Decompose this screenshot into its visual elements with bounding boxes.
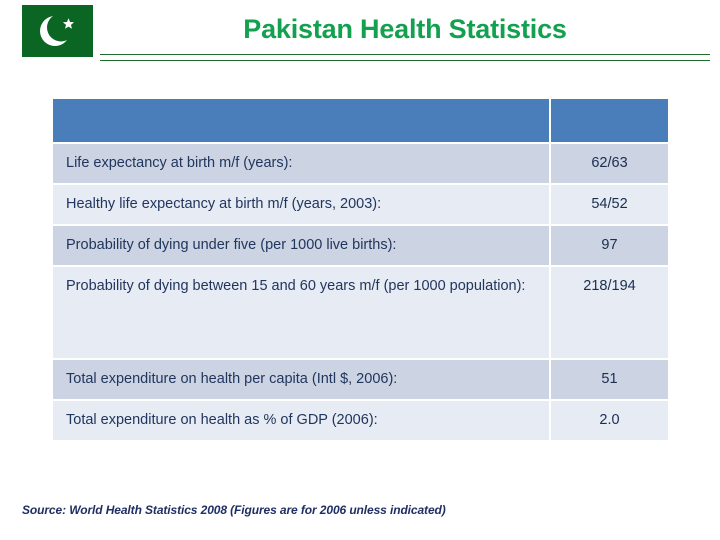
health-statistics-table: Life expectancy at birth m/f (years): 62…: [53, 99, 668, 442]
row-value: 51: [551, 360, 668, 401]
table-header-row: [53, 99, 668, 144]
row-value: 54/52: [551, 185, 668, 226]
flag-emblem: [22, 5, 93, 57]
table-row: Total expenditure on health as % of GDP …: [53, 401, 668, 442]
pakistan-flag-icon: [22, 5, 93, 57]
title-divider: [100, 54, 710, 61]
row-label: Probability of dying between 15 and 60 y…: [53, 267, 551, 360]
row-label: Total expenditure on health as % of GDP …: [53, 401, 551, 442]
table-row: Life expectancy at birth m/f (years): 62…: [53, 144, 668, 185]
row-value: 62/63: [551, 144, 668, 185]
row-value: 2.0: [551, 401, 668, 442]
row-label: Healthy life expectancy at birth m/f (ye…: [53, 185, 551, 226]
row-value: 218/194: [551, 267, 668, 360]
table-header: [53, 99, 668, 144]
column-header-value: [551, 99, 668, 144]
table-body: Life expectancy at birth m/f (years): 62…: [53, 144, 668, 442]
table-row: Probability of dying under five (per 100…: [53, 226, 668, 267]
row-label: Life expectancy at birth m/f (years):: [53, 144, 551, 185]
row-label: Probability of dying under five (per 100…: [53, 226, 551, 267]
source-note: Source: World Health Statistics 2008 (Fi…: [22, 503, 446, 517]
column-header-indicator: [53, 99, 551, 144]
row-label: Total expenditure on health per capita (…: [53, 360, 551, 401]
table-row: Total expenditure on health per capita (…: [53, 360, 668, 401]
row-value: 97: [551, 226, 668, 267]
table-row: Healthy life expectancy at birth m/f (ye…: [53, 185, 668, 226]
page-title: Pakistan Health Statistics: [105, 12, 705, 46]
table-row: Probability of dying between 15 and 60 y…: [53, 267, 668, 360]
slide-header: Pakistan Health Statistics: [0, 0, 720, 72]
